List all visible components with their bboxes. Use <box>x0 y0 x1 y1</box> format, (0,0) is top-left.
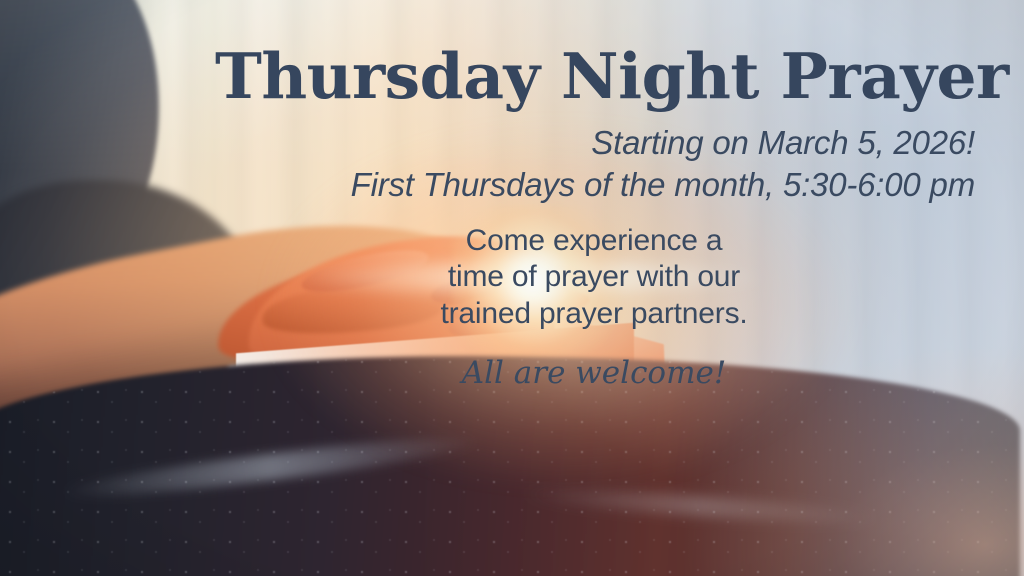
welcome-message: All are welcome! <box>215 355 975 392</box>
start-date-line: Starting on March 5, 2026! <box>215 122 975 164</box>
event-description: Come experience a time of prayer with ou… <box>215 223 975 333</box>
page-title: Thursday Night Prayer <box>215 44 975 108</box>
description-line-1: Come experience a <box>215 223 973 260</box>
poster-text-block: Thursday Night Prayer Starting on March … <box>215 44 975 392</box>
prayer-event-poster: Thursday Night Prayer Starting on March … <box>0 0 1024 576</box>
recurrence-time-line: First Thursdays of the month, 5:30-6:00 … <box>215 164 975 206</box>
description-line-2: time of prayer with our <box>215 259 973 296</box>
event-schedule: Starting on March 5, 2026! First Thursda… <box>215 122 975 206</box>
description-line-3: trained prayer partners. <box>215 296 973 333</box>
